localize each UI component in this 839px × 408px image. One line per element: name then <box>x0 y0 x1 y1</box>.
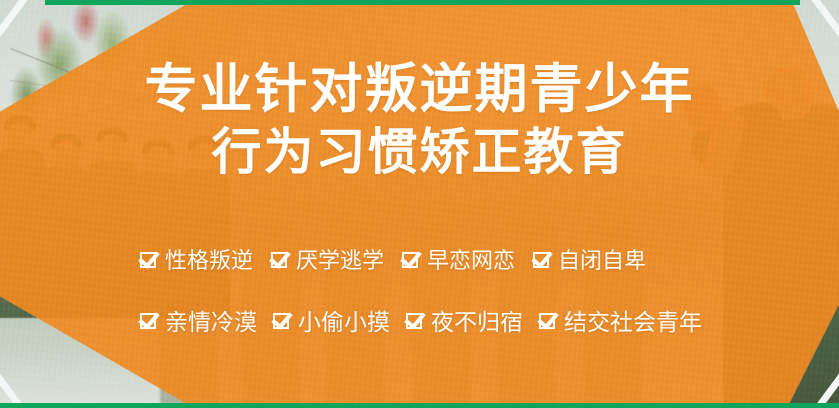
feature-label: 夜不归宿 <box>431 303 523 337</box>
feature-row-2: 亲情冷漠 小偷小摸 夜不归宿 结交社会青年 <box>140 301 743 339</box>
feature-item: 厌学逃学 <box>271 243 384 275</box>
feature-label: 亲情冷漠 <box>165 303 257 337</box>
feature-label: 结交社会青年 <box>564 303 702 337</box>
promo-banner: 专业针对叛逆期青少年 行为习惯矫正教育 性格叛逆 厌学逃学 早恋网恋 <box>0 0 839 408</box>
feature-item: 自闭自卑 <box>533 243 646 275</box>
feature-label: 自闭自卑 <box>558 243 646 275</box>
feature-item: 夜不归宿 <box>406 303 523 337</box>
banner-content: 专业针对叛逆期青少年 行为习惯矫正教育 性格叛逆 厌学逃学 早恋网恋 <box>0 0 839 408</box>
feature-label: 早恋网恋 <box>427 243 515 275</box>
checkbox-checked-icon <box>402 250 421 269</box>
feature-item: 小偷小摸 <box>273 303 390 337</box>
feature-label: 性格叛逆 <box>165 243 253 275</box>
checkbox-checked-icon <box>273 311 292 330</box>
headline: 专业针对叛逆期青少年 行为习惯矫正教育 <box>0 62 839 178</box>
feature-item: 结交社会青年 <box>539 303 702 337</box>
checkbox-checked-icon <box>140 311 159 330</box>
feature-item: 性格叛逆 <box>140 243 253 275</box>
feature-item: 早恋网恋 <box>402 243 515 275</box>
feature-row-1: 性格叛逆 厌学逃学 早恋网恋 自闭自卑 <box>140 240 743 278</box>
feature-list: 性格叛逆 厌学逃学 早恋网恋 自闭自卑 亲情冷漠 <box>140 240 743 339</box>
headline-line-2: 行为习惯矫正教育 <box>0 126 839 179</box>
checkbox-checked-icon <box>140 250 159 269</box>
checkbox-checked-icon <box>533 250 552 269</box>
checkbox-checked-icon <box>271 250 290 269</box>
headline-line-1: 专业针对叛逆期青少年 <box>0 62 839 118</box>
feature-item: 亲情冷漠 <box>140 303 257 337</box>
checkbox-checked-icon <box>406 311 425 330</box>
checkbox-checked-icon <box>539 311 558 330</box>
feature-label: 厌学逃学 <box>296 243 384 275</box>
feature-label: 小偷小摸 <box>298 303 390 337</box>
